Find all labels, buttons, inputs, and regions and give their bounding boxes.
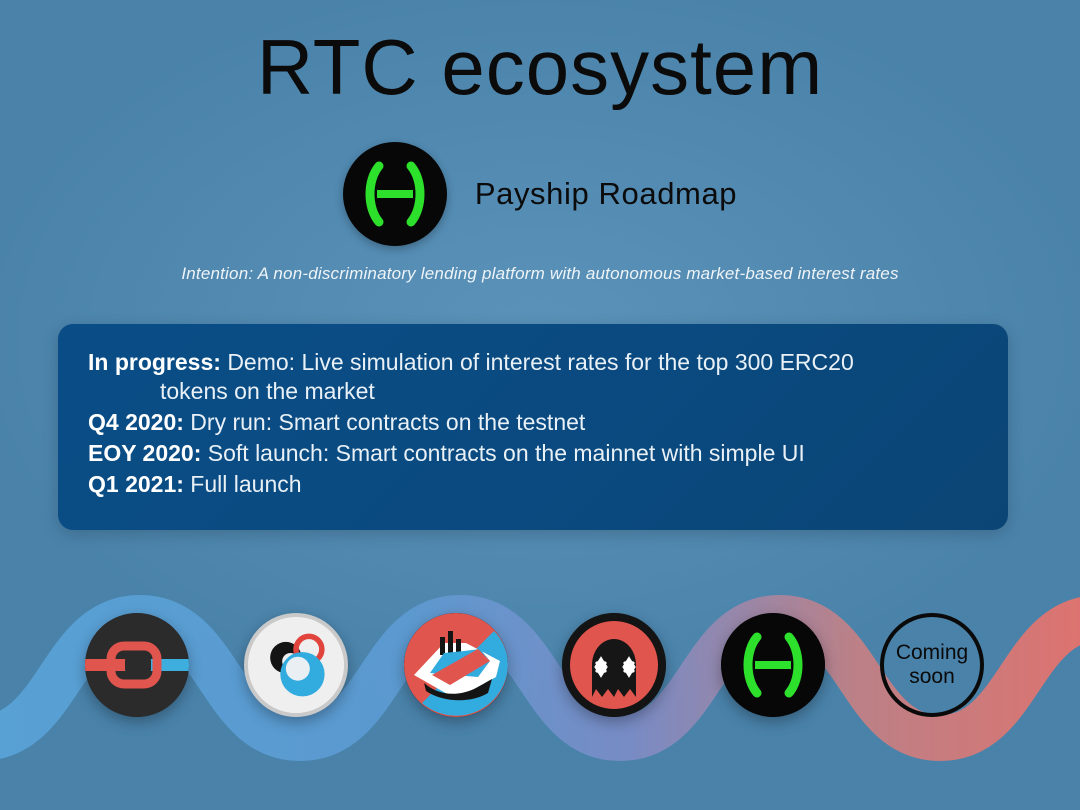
roadmap-item-text: Dry run: Smart contracts on the testnet bbox=[190, 409, 585, 435]
roadmap-item-label: Q4 2020: bbox=[88, 409, 184, 435]
roadmap-item-label: Q1 2021: bbox=[88, 471, 184, 497]
intention-text: Intention: A non-discriminatory lending … bbox=[0, 264, 1080, 284]
overlapping-circles-icon[interactable] bbox=[244, 613, 348, 717]
coming-soon-circle-icon[interactable]: Coming soon bbox=[880, 613, 984, 717]
page-title: RTC ecosystem bbox=[0, 28, 1080, 106]
chain-link-icon[interactable] bbox=[85, 613, 189, 717]
icon-chain: Coming soon bbox=[0, 548, 1080, 810]
brand-subtitle: Payship Roadmap bbox=[475, 176, 737, 212]
roadmap-item-label: In progress: bbox=[88, 349, 221, 375]
roadmap-item-text: Full launch bbox=[190, 471, 301, 497]
roadmap-item-label: EOY 2020: bbox=[88, 440, 201, 466]
roadmap-item: In progress: Demo: Live simulation of in… bbox=[88, 348, 978, 406]
roadmap-item: Q4 2020: Dry run: Smart contracts on the… bbox=[88, 408, 978, 437]
roadmap-panel: In progress: Demo: Live simulation of in… bbox=[58, 324, 1008, 530]
coming-soon-label: Coming soon bbox=[896, 641, 968, 689]
roadmap-item-continuation: tokens on the market bbox=[88, 377, 978, 406]
roadmap-item-text: Soft launch: Smart contracts on the main… bbox=[208, 440, 805, 466]
ship-icon[interactable] bbox=[404, 613, 508, 717]
ghost-icon[interactable] bbox=[562, 613, 666, 717]
brand-row: Payship Roadmap bbox=[0, 142, 1080, 246]
roadmap-item-text: Demo: Live simulation of interest rates … bbox=[227, 349, 853, 375]
payship-logo-icon bbox=[343, 142, 447, 246]
payship-logo-icon[interactable] bbox=[721, 613, 825, 717]
roadmap-item: Q1 2021: Full launch bbox=[88, 470, 978, 499]
roadmap-item: EOY 2020: Soft launch: Smart contracts o… bbox=[88, 439, 978, 468]
